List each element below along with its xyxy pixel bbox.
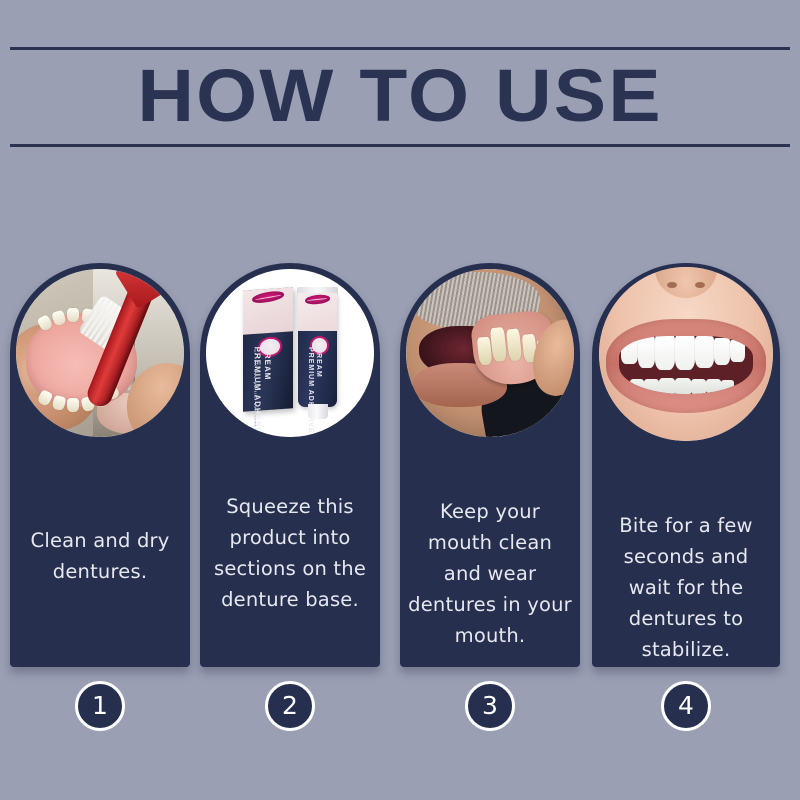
tube-product-line: CREAM xyxy=(315,347,322,378)
step-caption-2: Squeeze this product into sections on th… xyxy=(208,491,372,615)
step-caption-3: Keep your mouth clean and wear dentures … xyxy=(408,496,572,651)
box-product-line: CREAM xyxy=(263,346,272,381)
step-badge-3: 3 xyxy=(465,681,515,731)
step-caption-4: Bite for a few seconds and wait for the … xyxy=(600,510,772,665)
denture-cleaning-photo xyxy=(14,267,186,439)
smiling-teeth-photo xyxy=(597,265,775,443)
step-caption-1: Clean and dry dentures. xyxy=(18,525,182,587)
step-badge-1: 1 xyxy=(75,681,125,731)
step-card-3: 3 Keep your mouth clean and wear denture… xyxy=(400,263,580,667)
step-card-1: 1 Clean and dry dentures. xyxy=(10,263,190,667)
inserting-denture-photo xyxy=(404,267,576,439)
product-tube: PREMIUM ADHESIVE CREAM xyxy=(298,293,337,407)
step-badge-4: 4 xyxy=(661,681,711,731)
product-box: PREMIUM ADHESIVE CREAM for full and part… xyxy=(243,287,293,411)
step-card-4: 4 Bite for a few seconds and wait for th… xyxy=(592,263,780,667)
steps-container: 1 Clean and dry dentures. P xyxy=(0,0,800,800)
adhesive-product-photo: PREMIUM ADHESIVE CREAM for full and part… xyxy=(204,267,376,439)
lips-icon xyxy=(252,289,285,304)
step-card-2: PREMIUM ADHESIVE CREAM for full and part… xyxy=(200,263,380,667)
tube-brand-line: PREMIUM ADHESIVE xyxy=(307,347,314,434)
step-badge-2: 2 xyxy=(265,681,315,731)
box-subtitle: for full and partial dentures xyxy=(253,347,258,428)
infographic-page: HOW TO USE xyxy=(0,0,800,800)
